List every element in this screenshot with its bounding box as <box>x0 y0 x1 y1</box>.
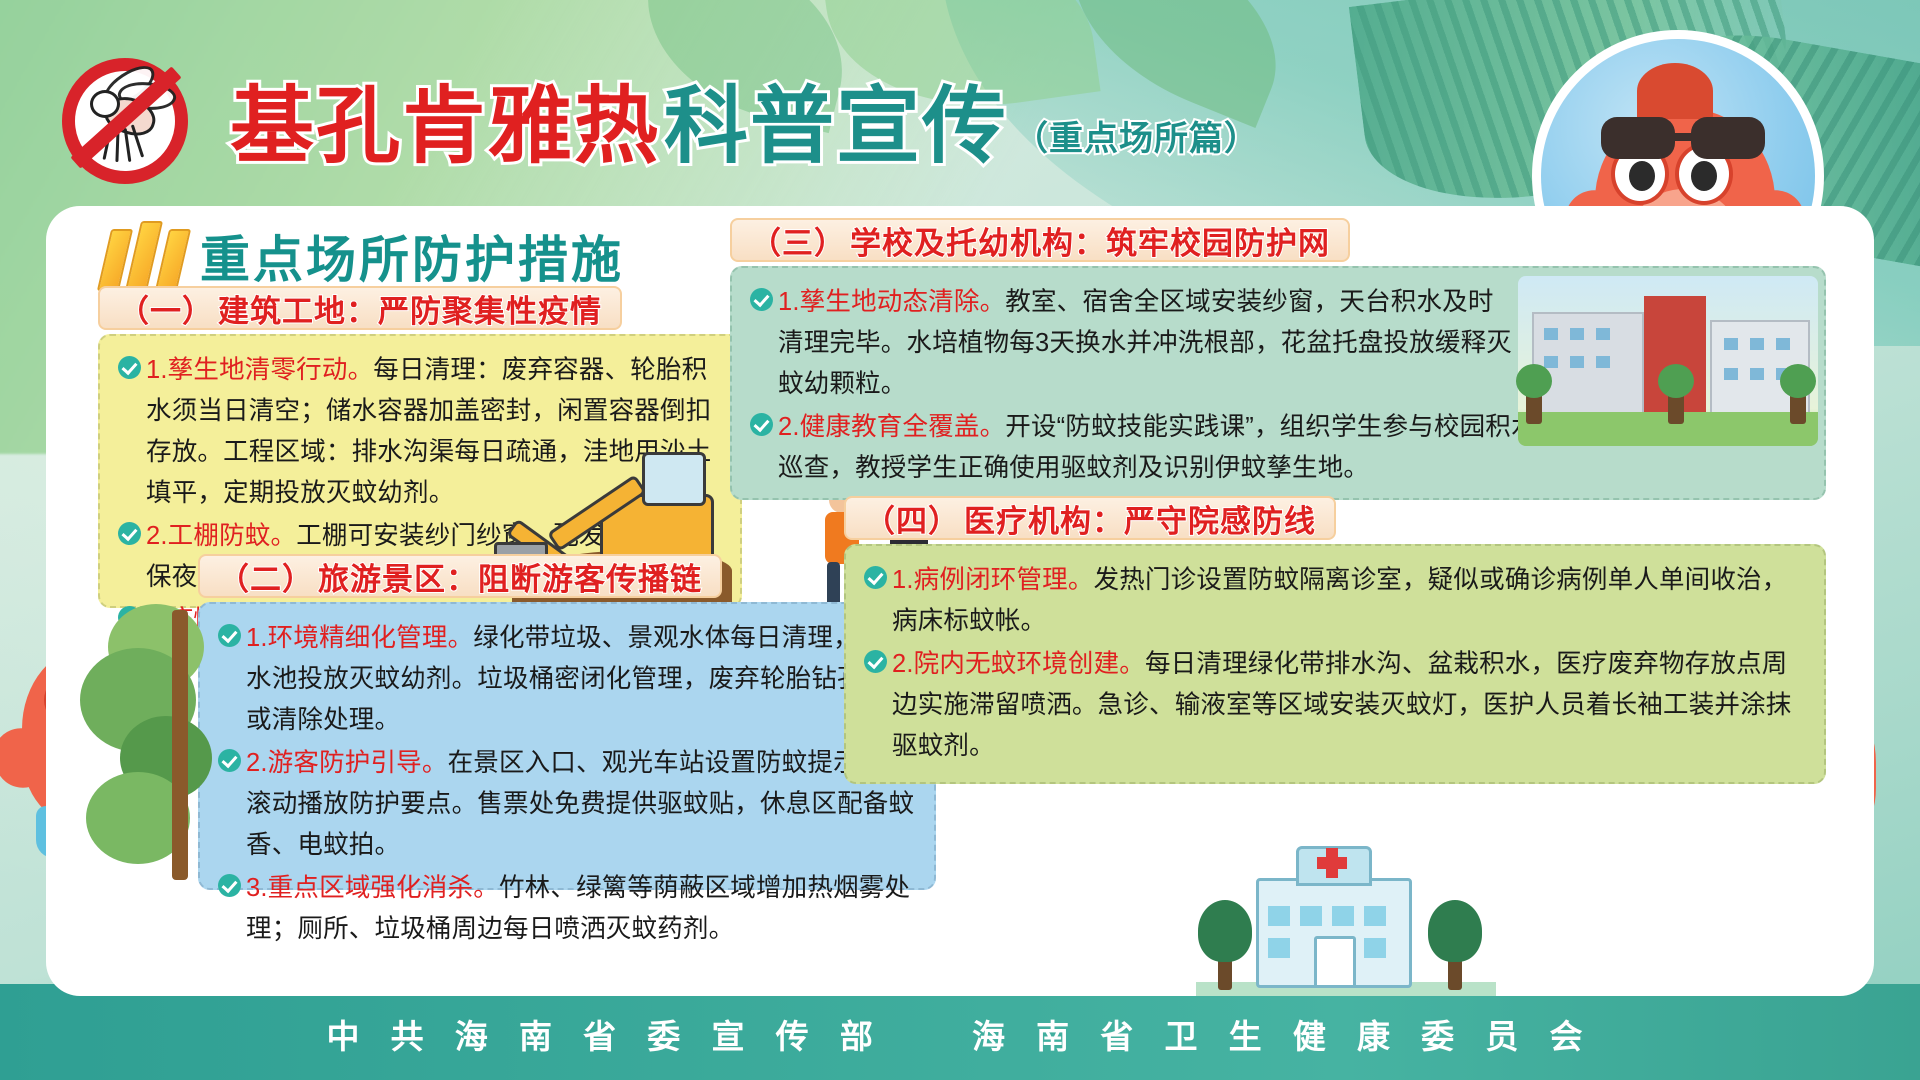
section-header-3: （三） 学校及托幼机构：筑牢校园防护网 <box>730 218 1350 262</box>
check-circle-icon <box>218 749 241 772</box>
section-index-2: （二） <box>218 554 314 599</box>
list-item-text: 2.院内无蚊环境创建。每日清理绿化带排水沟、盆栽积水，医疗废弃物存放点周边实施滞… <box>892 644 1806 767</box>
check-circle-icon <box>118 356 141 379</box>
section-header-1: （一） 建筑工地：严防聚集性疫情 <box>98 286 622 330</box>
bamboo-trunk-illustration <box>172 610 188 880</box>
section-body-3: 1.孳生地动态清除。教室、宿舍全区域安装纱窗，天台积水及时清理完毕。水培植物每3… <box>730 266 1826 500</box>
list-item-text: 1.孳生地动态清除。教室、宿舍全区域安装纱窗，天台积水及时清理完毕。水培植物每3… <box>778 282 1518 405</box>
check-circle-icon <box>218 874 241 897</box>
section-body-2: 1.环境精细化管理。绿化带垃圾、景观水体每日清理，喷泉水池投放灭蚊幼剂。垃圾桶密… <box>198 602 936 890</box>
title-campaign: 科普宣传 <box>664 84 1008 168</box>
check-circle-icon <box>750 413 773 436</box>
poster-root: 基孔肯雅热 科普宣传 （重点场所篇） <box>0 0 1920 1080</box>
list-item: 2.健康教育全覆盖。开设“防蚊技能实践课”，组织学生参与校园积水巡查，教授学生正… <box>750 407 1806 489</box>
title-disease-name: 基孔肯雅热 <box>230 84 660 168</box>
check-circle-icon <box>750 288 773 311</box>
mosquito-ban-icon <box>52 48 212 188</box>
section-index-4: （四） <box>864 496 960 541</box>
footer-credits: 中 共 海 南 省 委 宣 传 部 海 南 省 卫 生 健 康 委 员 会 <box>0 1010 1920 1058</box>
exclamation-marks-icon <box>104 221 184 291</box>
check-circle-icon <box>864 650 887 673</box>
list-item: 1.病例闭环管理。发热门诊设置防蚊隔离诊室，疑似或确诊病例单人单间收治，病床标蚊… <box>864 560 1806 642</box>
check-circle-icon <box>864 566 887 589</box>
section-header-4: （四） 医疗机构：严守院感防线 <box>844 496 1336 540</box>
hospital-illustration <box>1196 816 1496 996</box>
list-item: 1.环境精细化管理。绿化带垃圾、景观水体每日清理，喷泉水池投放灭蚊幼剂。垃圾桶密… <box>218 618 916 741</box>
list-item-text: 1.环境精细化管理。绿化带垃圾、景观水体每日清理，喷泉水池投放灭蚊幼剂。垃圾桶密… <box>246 618 916 741</box>
list-item: 1.孳生地动态清除。教室、宿舍全区域安装纱窗，天台积水及时清理完毕。水培植物每3… <box>750 282 1806 405</box>
section-index-1: （一） <box>118 286 214 331</box>
list-item-text: 2.健康教育全覆盖。开设“防蚊技能实践课”，组织学生参与校园积水巡查，教授学生正… <box>778 407 1538 489</box>
section-title-2: 旅游景区：阻断游客传播链 <box>318 554 702 599</box>
footer-org-1: 中 共 海 南 省 委 宣 传 部 <box>326 1018 883 1055</box>
list-item: 3.重点区域强化消杀。竹林、绿篱等荫蔽区域增加热烟雾处理；厕所、垃圾桶周边每日喷… <box>218 868 916 950</box>
list-item: 2.游客防护引导。在景区入口、观光车站设置防蚊提示屏，滚动播放防护要点。售票处免… <box>218 743 916 866</box>
section-title-1: 建筑工地：严防聚集性疫情 <box>218 286 602 331</box>
title-parenthetical: （重点场所篇） <box>1014 111 1259 160</box>
list-item-text: 2.游客防护引导。在景区入口、观光车站设置防蚊提示屏，滚动播放防护要点。售票处免… <box>246 743 916 866</box>
section-title-4: 医疗机构：严守院感防线 <box>964 496 1316 541</box>
list-item: 1.孳生地清零行动。每日清理：废弃容器、轮胎积水须当日清空；储水容器加盖密封，闲… <box>118 350 722 514</box>
list-item-text: 1.孳生地清零行动。每日清理：废弃容器、轮胎积水须当日清空；储水容器加盖密封，闲… <box>146 350 722 514</box>
list-item: 2.院内无蚊环境创建。每日清理绿化带排水沟、盆栽积水，医疗废弃物存放点周边实施滞… <box>864 644 1806 767</box>
check-circle-icon <box>218 624 241 647</box>
main-heading: 重点场所防护措施 <box>104 220 624 292</box>
main-heading-text: 重点场所防护措施 <box>200 220 624 292</box>
list-item-text: 3.重点区域强化消杀。竹林、绿篱等荫蔽区域增加热烟雾处理；厕所、垃圾桶周边每日喷… <box>246 868 916 950</box>
poster-title: 基孔肯雅热 科普宣传 （重点场所篇） <box>230 58 1259 168</box>
content-card: 重点场所防护措施 （一） 建筑工地：严防聚集性疫情 1.孳生地清零行动。每日清理… <box>46 206 1874 996</box>
list-item-lead: 1. <box>146 356 168 384</box>
list-item-text: 1.病例闭环管理。发热门诊设置防蚊隔离诊室，疑似或确诊病例单人单间收治，病床标蚊… <box>892 560 1806 642</box>
section-index-3: （三） <box>750 218 846 263</box>
section-header-2: （二） 旅游景区：阻断游客传播链 <box>198 554 722 598</box>
footer-org-2: 海 南 省 卫 生 健 康 委 员 会 <box>972 1018 1594 1055</box>
section-title-3: 学校及托幼机构：筑牢校园防护网 <box>850 218 1330 263</box>
check-circle-icon <box>118 522 141 545</box>
section-body-4: 1.病例闭环管理。发热门诊设置防蚊隔离诊室，疑似或确诊病例单人单间收治，病床标蚊… <box>844 544 1826 784</box>
